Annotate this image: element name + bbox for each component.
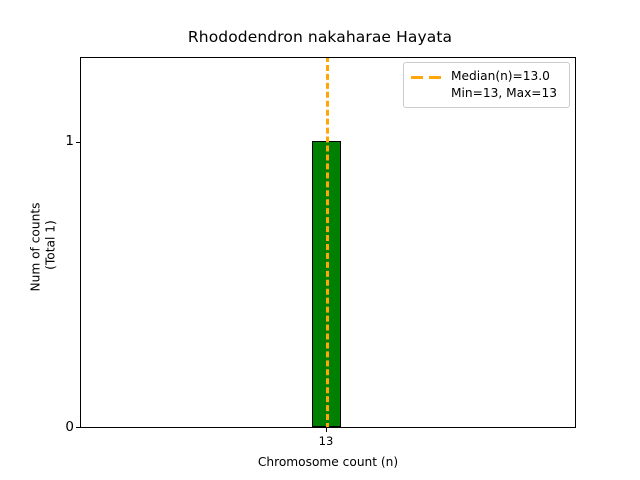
- legend-label-minmax: Min=13, Max=13: [451, 85, 557, 102]
- plot-area: [80, 57, 576, 428]
- y-axis-label-line2: (Total 1): [44, 220, 58, 273]
- x-tick-label-13: 13: [296, 434, 356, 448]
- y-axis-label: Num of counts (Total 1): [29, 62, 59, 433]
- legend[interactable]: Median(n)=13.0 Min=13, Max=13: [403, 62, 570, 108]
- y-axis-label-line1: Num of counts: [29, 203, 43, 292]
- legend-dashed-line-icon: [411, 71, 444, 85]
- legend-label-median: Median(n)=13.0: [451, 68, 557, 85]
- x-axis-label: Chromosome count (n): [80, 455, 576, 469]
- legend-text: Median(n)=13.0 Min=13, Max=13: [451, 68, 557, 101]
- chart-title: Rhododendron nakaharae Hayata: [0, 28, 640, 46]
- x-tick-mark-13: [326, 428, 327, 432]
- figure-canvas: Rhododendron nakaharae Hayata 0 1 13 Chr…: [0, 0, 640, 480]
- median-line: [326, 57, 329, 428]
